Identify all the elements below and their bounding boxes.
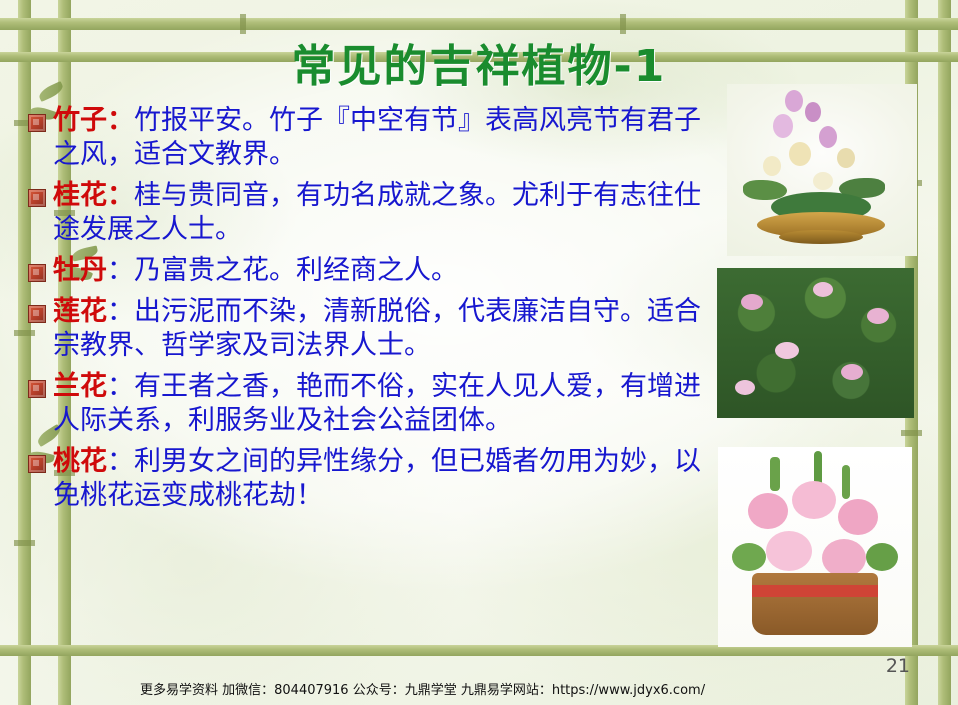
list-item: 桂花：桂与贵同音，有功名成就之象。尤利于有志往仕途发展之人士。 xyxy=(28,179,708,247)
peony-basket-photo xyxy=(718,447,912,647)
list-item: 兰花：有王者之香，艳而不俗，实在人见人爱，有增进人际关系，利服务业及社会公益团体… xyxy=(28,370,708,438)
orchid-bloom xyxy=(789,142,811,166)
list-item-text: 桂花：桂与贵同音，有功名成就之象。尤利于有志往仕途发展之人士。 xyxy=(53,179,708,247)
diamond-bullet-icon xyxy=(28,264,46,282)
list-item: 牡丹：乃富贵之花。利经商之人。 xyxy=(28,254,708,288)
list-item-text: 兰花：有王者之香，艳而不俗，实在人见人爱，有增进人际关系，利服务业及社会公益团体… xyxy=(53,370,708,438)
peony-stem xyxy=(842,465,850,499)
list-item-keyword: 兰花 xyxy=(53,371,107,402)
list-item-text: 莲花：出污泥而不染，清新脱俗，代表廉洁自守。适合宗教界、哲学家及司法界人士。 xyxy=(53,295,708,363)
peony-bloom xyxy=(822,539,866,577)
lily-bloom xyxy=(735,380,755,395)
bamboo-frame-top xyxy=(0,18,958,30)
diamond-bullet-icon xyxy=(28,114,46,132)
orchid-bloom xyxy=(763,156,781,176)
bamboo-node-icon xyxy=(901,430,922,436)
footer-text: 更多易学资料 加微信：804407916 公众号：九鼎学堂 九鼎易学网站：htt… xyxy=(140,679,705,698)
list-item-keyword: 牡丹 xyxy=(53,255,107,286)
orchid-bloom xyxy=(773,114,793,138)
lily-bloom xyxy=(867,308,889,324)
diamond-bullet-icon xyxy=(28,189,46,207)
list-item: 莲花：出污泥而不染，清新脱俗，代表廉洁自守。适合宗教界、哲学家及司法界人士。 xyxy=(28,295,708,363)
list-item-body: ：乃富贵之花。利经商之人。 xyxy=(107,255,458,286)
lily-bloom xyxy=(841,364,863,380)
lily-bloom xyxy=(775,342,799,359)
list-item-text: 桃花：利男女之间的异性缘分，但已婚者勿用为妙，以免桃花运变成桃花劫！ xyxy=(53,445,708,513)
lily-bloom xyxy=(813,282,833,297)
orchid-bloom xyxy=(819,126,837,148)
slide-background: 常见的吉祥植物-1 竹子：竹报平安。竹子『中空有节』表高风亮节有君子之风，适合文… xyxy=(0,0,958,705)
list-item-body: 桂与贵同音，有功名成就之象。尤利于有志往仕途发展之人士。 xyxy=(53,180,701,245)
bullet-list: 竹子：竹报平安。竹子『中空有节』表高风亮节有君子之风，适合文教界。 桂花：桂与贵… xyxy=(28,104,708,520)
list-item-keyword: 莲花 xyxy=(53,296,107,327)
orchid-bloom xyxy=(805,102,821,122)
diamond-bullet-icon xyxy=(28,380,46,398)
water-lily-pond-photo xyxy=(717,268,914,418)
orchid-pot-base xyxy=(779,230,863,244)
diamond-bullet-icon xyxy=(28,455,46,473)
list-item-body: ：利男女之间的异性缘分，但已婚者勿用为妙，以免桃花运变成桃花劫！ xyxy=(53,446,701,511)
list-item-body: ：出污泥而不染，清新脱俗，代表廉洁自守。适合宗教界、哲学家及司法界人士。 xyxy=(53,296,701,361)
list-item-text: 牡丹：乃富贵之花。利经商之人。 xyxy=(53,254,458,288)
list-item: 桃花：利男女之间的异性缘分，但已婚者勿用为妙，以免桃花运变成桃花劫！ xyxy=(28,445,708,513)
peony-leaf xyxy=(732,543,766,571)
peony-basket xyxy=(752,573,878,635)
list-item: 竹子：竹报平安。竹子『中空有节』表高风亮节有君子之风，适合文教界。 xyxy=(28,104,708,172)
orchid-bloom xyxy=(813,172,833,190)
peony-bloom xyxy=(748,493,788,529)
peony-bloom xyxy=(792,481,836,519)
list-item-keyword: 桃花 xyxy=(53,446,107,477)
diamond-bullet-icon xyxy=(28,305,46,323)
peony-basket-ribbon xyxy=(752,585,878,597)
orchid-bloom xyxy=(837,148,855,168)
list-item-body: 竹报平安。竹子『中空有节』表高风亮节有君子之风，适合文教界。 xyxy=(53,105,701,170)
bamboo-frame-right-outer xyxy=(938,0,951,705)
peony-bloom xyxy=(838,499,878,535)
peony-leaf xyxy=(866,543,898,571)
list-item-keyword: 竹子： xyxy=(53,105,134,136)
lily-bloom xyxy=(741,294,763,310)
peony-stem xyxy=(770,457,780,491)
list-item-text: 竹子：竹报平安。竹子『中空有节』表高风亮节有君子之风，适合文教界。 xyxy=(53,104,708,172)
peony-bloom xyxy=(766,531,812,571)
list-item-body: ：有王者之香，艳而不俗，实在人见人爱，有增进人际关系，利服务业及社会公益团体。 xyxy=(53,371,701,436)
orchid-bloom xyxy=(785,90,803,112)
list-item-keyword: 桂花： xyxy=(53,180,134,211)
page-number: 21 xyxy=(886,655,910,677)
orchid-arrangement-photo xyxy=(727,84,917,256)
bamboo-node-icon xyxy=(14,540,35,546)
